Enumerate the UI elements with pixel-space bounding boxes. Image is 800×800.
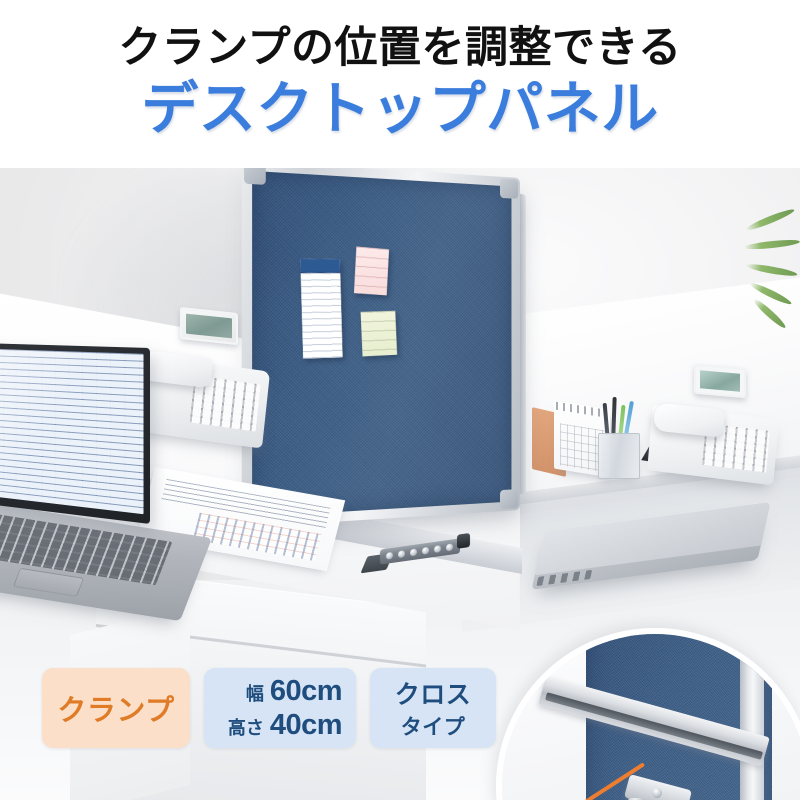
plant-leaf xyxy=(744,238,800,251)
badge-size: 幅 60cm 高さ 40cm xyxy=(204,668,356,748)
schedule-body xyxy=(301,273,343,359)
rail-hole xyxy=(410,548,417,556)
pen xyxy=(603,403,610,435)
badge-width-value: 60cm xyxy=(270,675,342,708)
badge-type-line-1: クロス xyxy=(395,675,472,711)
panel-corner-cap xyxy=(500,489,518,509)
panel-felt-surface xyxy=(252,171,511,517)
badge-height-value: 40cm xyxy=(270,709,342,742)
headline-line-2: デスクトップパネル xyxy=(0,76,800,142)
panel-frame xyxy=(242,160,520,527)
badge-height-row: 高さ 40cm xyxy=(218,709,342,742)
pinned-pink-memo xyxy=(354,246,389,295)
phone-display xyxy=(180,307,238,345)
pinned-green-memo xyxy=(361,311,398,357)
inset-clamp-assembly xyxy=(626,782,694,800)
badge-type-line-2: タイプ xyxy=(401,711,466,741)
rail-hole xyxy=(422,547,429,555)
phone-display-screen xyxy=(186,314,232,339)
inset-panel-frame-edge xyxy=(740,628,764,800)
pen xyxy=(624,401,634,435)
plant xyxy=(744,210,800,350)
pinned-schedule-sheet xyxy=(300,259,342,359)
badge-clamp-label: クランプ xyxy=(57,687,174,729)
rail-hole xyxy=(398,550,405,558)
rail-hole xyxy=(446,543,453,551)
badge-width-label: 幅 xyxy=(246,680,264,706)
panel-corner-cap xyxy=(500,179,518,199)
office-phone-right xyxy=(646,382,786,500)
pen-holder-cup xyxy=(598,433,640,479)
headline-line-1: クランプの位置を調整できる xyxy=(0,22,800,74)
plant-leaf xyxy=(745,207,796,233)
desktop-panel xyxy=(254,178,520,510)
badge-clamp: クランプ xyxy=(42,668,190,748)
badge-type: クロス タイプ xyxy=(370,668,496,748)
open-laptop xyxy=(0,348,254,648)
pen-holder xyxy=(592,405,650,481)
headline: クランプの位置を調整できる デスクトップパネル xyxy=(0,0,800,168)
laptop-screen xyxy=(0,343,150,524)
schedule-header xyxy=(300,259,340,273)
phone-display xyxy=(694,364,746,399)
product-poster: クランプの位置を調整できる デスクトップパネル xyxy=(0,0,800,800)
rail-hole xyxy=(434,545,441,553)
phone-display-screen xyxy=(700,370,740,391)
laptop-spreadsheet-display xyxy=(0,349,144,514)
clamp-knob xyxy=(457,533,470,549)
clamp-closeup-inset xyxy=(496,628,800,800)
plant-leaf xyxy=(745,262,797,278)
spec-badges: クランプ 幅 60cm 高さ 40cm クロス タイプ xyxy=(42,668,496,748)
rail-hole xyxy=(386,552,393,560)
badge-width-row: 幅 60cm xyxy=(218,675,342,708)
pen xyxy=(611,397,616,435)
badge-height-label: 高さ xyxy=(228,714,264,740)
